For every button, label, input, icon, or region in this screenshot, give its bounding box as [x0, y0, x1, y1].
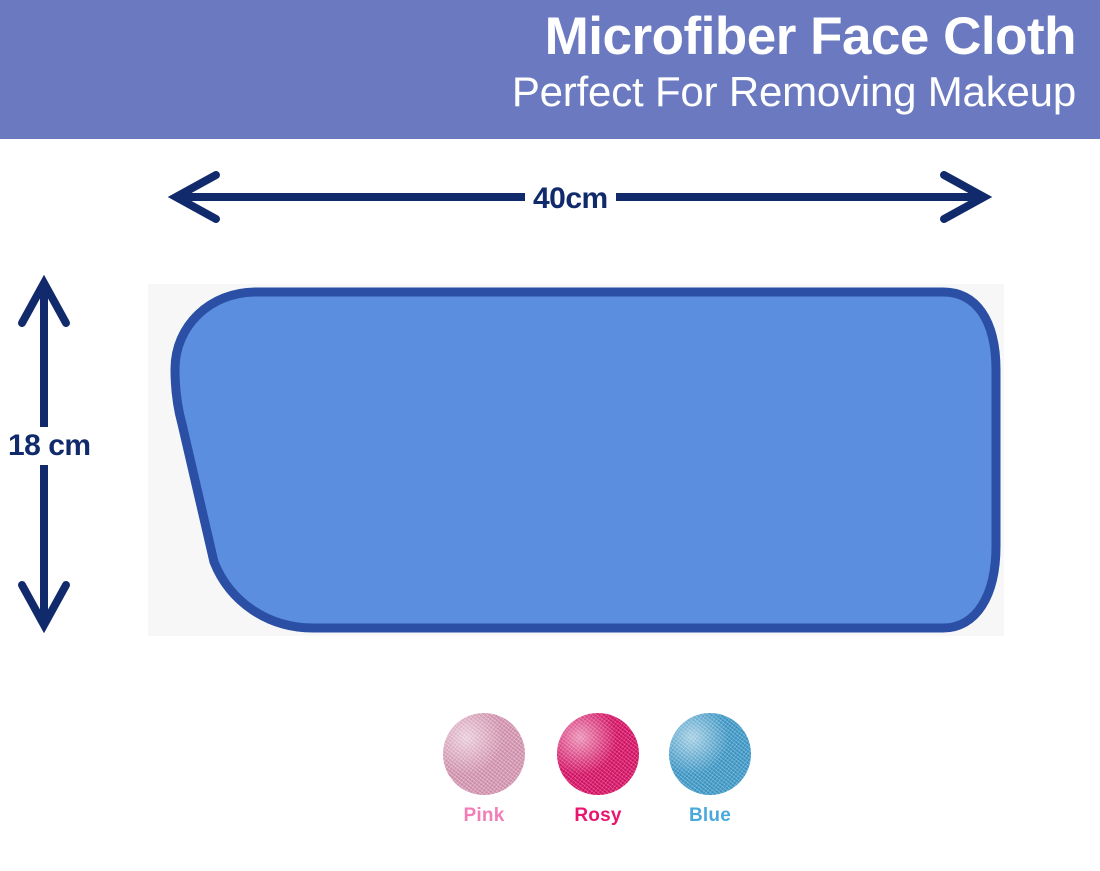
page-subtitle: Perfect For Removing Makeup — [512, 66, 1076, 118]
swatch-label-pink: Pink — [443, 805, 525, 827]
color-swatch-row: Pink Rosy Blue — [0, 713, 1100, 843]
height-label: 18 cm — [6, 427, 93, 465]
page-title: Microfiber Face Cloth — [512, 6, 1076, 68]
swatch-dot-blue — [669, 713, 751, 795]
dimension-diagram: 40cm 18 cm — [0, 139, 1100, 719]
color-swatch-blue[interactable]: Blue — [669, 713, 751, 827]
swatch-label-rosy: Rosy — [557, 805, 639, 827]
color-swatch-rosy[interactable]: Rosy — [557, 713, 639, 827]
swatch-dot-rosy — [557, 713, 639, 795]
header-text-block: Microfiber Face Cloth Perfect For Removi… — [512, 6, 1076, 118]
swatch-label-blue: Blue — [669, 805, 751, 827]
product-infographic: Microfiber Face Cloth Perfect For Removi… — [0, 0, 1100, 871]
swatch-dot-pink — [443, 713, 525, 795]
width-label: 40cm — [525, 182, 616, 216]
header-banner: Microfiber Face Cloth Perfect For Removi… — [0, 0, 1100, 139]
cloth-shape — [148, 284, 1004, 636]
color-swatch-pink[interactable]: Pink — [443, 713, 525, 827]
